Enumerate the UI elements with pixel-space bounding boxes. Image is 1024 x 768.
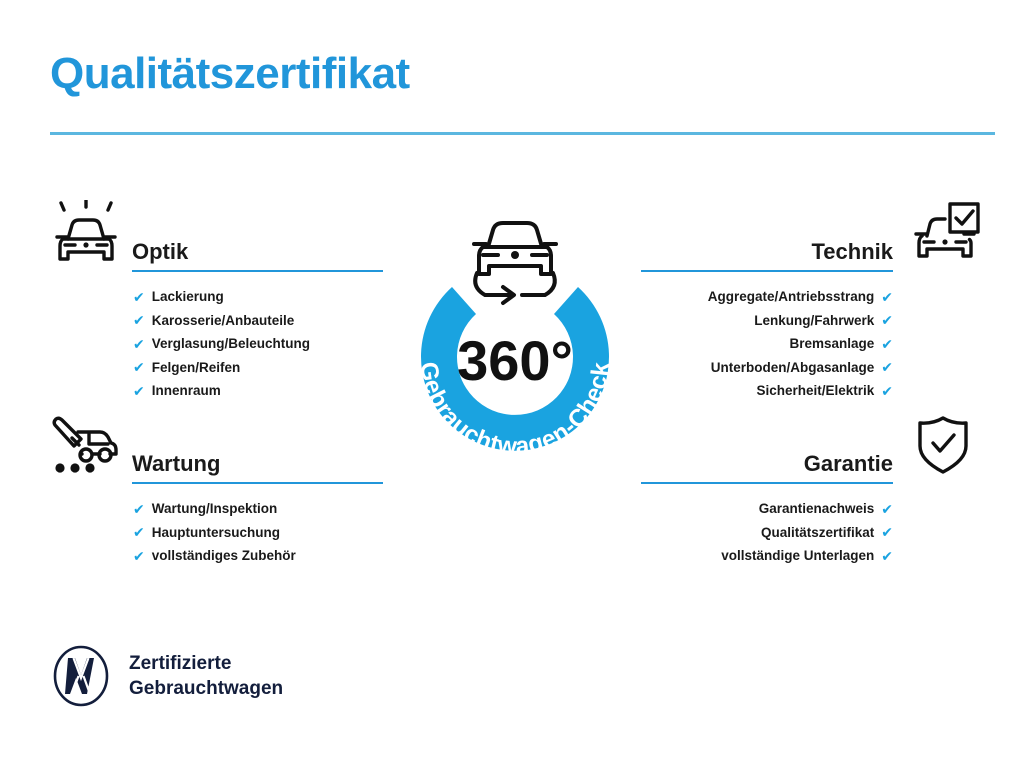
list-item: Garantienachweis✔ bbox=[641, 497, 893, 521]
list-item: ✔vollständiges Zubehör bbox=[133, 544, 383, 568]
section-title: Technik bbox=[641, 240, 893, 270]
car-shine-icon bbox=[48, 200, 124, 268]
section-header: Technik bbox=[641, 200, 981, 272]
list-item-label: Karosserie/Anbauteile bbox=[152, 309, 295, 333]
check-icon: ✔ bbox=[881, 549, 893, 563]
section-title-wrap: Garantie bbox=[641, 452, 893, 484]
list-item-label: Aggregate/Antriebsstrang bbox=[708, 285, 875, 309]
badge-center-label: 360° bbox=[457, 329, 573, 392]
list-item-label: Garantienachweis bbox=[759, 497, 875, 521]
section-technik: Technik Aggregate/Antriebsstrang✔ Lenkun… bbox=[641, 200, 981, 403]
check-icon: ✔ bbox=[133, 384, 145, 398]
list-item: ✔Hauptuntersuchung bbox=[133, 521, 383, 545]
list-item: Sicherheit/Elektrik✔ bbox=[641, 379, 893, 403]
section-underline bbox=[641, 270, 893, 272]
list-item-label: Felgen/Reifen bbox=[152, 356, 241, 380]
list-item: ✔Wartung/Inspektion bbox=[133, 497, 383, 521]
check-icon: ✔ bbox=[133, 549, 145, 563]
certificate-page: Qualitätszertifikat Optik ✔Lackierung bbox=[0, 0, 1024, 768]
section-underline bbox=[132, 482, 383, 484]
section-underline bbox=[132, 270, 383, 272]
section-title: Wartung bbox=[132, 452, 383, 482]
list-item-label: Qualitätszertifikat bbox=[761, 521, 874, 545]
checklist-garantie: Garantienachweis✔ Qualitätszertifikat✔ v… bbox=[641, 497, 981, 568]
list-item-label: Lackierung bbox=[152, 285, 224, 309]
section-title-wrap: Wartung bbox=[132, 452, 383, 484]
section-optik: Optik ✔Lackierung ✔Karosserie/Anbauteile… bbox=[48, 200, 383, 403]
list-item-label: Unterboden/Abgasanlage bbox=[711, 356, 875, 380]
check-icon: ✔ bbox=[133, 502, 145, 516]
check-icon: ✔ bbox=[881, 337, 893, 351]
list-item-label: Bremsanlage bbox=[789, 332, 874, 356]
page-title: Qualitätszertifikat bbox=[50, 50, 410, 98]
section-wartung: Wartung ✔Wartung/Inspektion ✔Hauptunters… bbox=[48, 412, 383, 568]
list-item: Bremsanlage✔ bbox=[641, 332, 893, 356]
footer-text: Zertifizierte Gebrauchtwagen bbox=[129, 651, 283, 701]
car-service-tool-icon bbox=[48, 412, 124, 480]
section-garantie: Garantie Garantienachweis✔ Qualitätszert… bbox=[641, 412, 981, 568]
section-underline bbox=[641, 482, 893, 484]
badge-360-gebrauchtwagen-check: Gebrauchtwagen-Check 360° bbox=[370, 192, 660, 492]
list-item: ✔Felgen/Reifen bbox=[133, 356, 383, 380]
list-item: ✔Verglasung/Beleuchtung bbox=[133, 332, 383, 356]
header-divider bbox=[50, 132, 995, 135]
section-header: Optik bbox=[48, 200, 383, 272]
check-icon: ✔ bbox=[881, 384, 893, 398]
car-rotate-icon bbox=[474, 223, 556, 303]
check-icon: ✔ bbox=[133, 290, 145, 304]
list-item-label: Sicherheit/Elektrik bbox=[756, 379, 874, 403]
section-title: Garantie bbox=[641, 452, 893, 482]
section-header: Garantie bbox=[641, 412, 981, 484]
check-icon: ✔ bbox=[881, 502, 893, 516]
checklist-technik: Aggregate/Antriebsstrang✔ Lenkung/Fahrwe… bbox=[641, 285, 981, 403]
section-header: Wartung bbox=[48, 412, 383, 484]
list-item: ✔Lackierung bbox=[133, 285, 383, 309]
list-item: Aggregate/Antriebsstrang✔ bbox=[641, 285, 893, 309]
list-item: Qualitätszertifikat✔ bbox=[641, 521, 893, 545]
check-icon: ✔ bbox=[133, 313, 145, 327]
section-title-wrap: Technik bbox=[641, 240, 893, 272]
list-item-label: Wartung/Inspektion bbox=[152, 497, 278, 521]
footer-line-2: Gebrauchtwagen bbox=[129, 676, 283, 701]
footer-logo: Zertifizierte Gebrauchtwagen bbox=[52, 645, 283, 707]
car-checkbox-icon bbox=[905, 200, 981, 268]
check-icon: ✔ bbox=[881, 290, 893, 304]
checklist-optik: ✔Lackierung ✔Karosserie/Anbauteile ✔Verg… bbox=[48, 285, 383, 403]
check-icon: ✔ bbox=[881, 360, 893, 374]
section-title: Optik bbox=[132, 240, 383, 270]
check-icon: ✔ bbox=[881, 313, 893, 327]
list-item-label: vollständige Unterlagen bbox=[721, 544, 874, 568]
list-item: ✔Karosserie/Anbauteile bbox=[133, 309, 383, 333]
shield-check-icon bbox=[905, 412, 981, 480]
check-icon: ✔ bbox=[133, 525, 145, 539]
checklist-wartung: ✔Wartung/Inspektion ✔Hauptuntersuchung ✔… bbox=[48, 497, 383, 568]
list-item-label: vollständiges Zubehör bbox=[152, 544, 296, 568]
list-item-label: Hauptuntersuchung bbox=[152, 521, 280, 545]
list-item-label: Innenraum bbox=[152, 379, 221, 403]
list-item: Lenkung/Fahrwerk✔ bbox=[641, 309, 893, 333]
check-icon: ✔ bbox=[133, 360, 145, 374]
footer-line-1: Zertifizierte bbox=[129, 651, 283, 676]
list-item: vollständige Unterlagen✔ bbox=[641, 544, 893, 568]
check-icon: ✔ bbox=[133, 337, 145, 351]
list-item-label: Verglasung/Beleuchtung bbox=[152, 332, 310, 356]
list-item: Unterboden/Abgasanlage✔ bbox=[641, 356, 893, 380]
list-item: ✔Innenraum bbox=[133, 379, 383, 403]
section-title-wrap: Optik bbox=[132, 240, 383, 272]
list-item-label: Lenkung/Fahrwerk bbox=[754, 309, 874, 333]
vw-logo-icon bbox=[52, 645, 110, 707]
check-icon: ✔ bbox=[881, 525, 893, 539]
